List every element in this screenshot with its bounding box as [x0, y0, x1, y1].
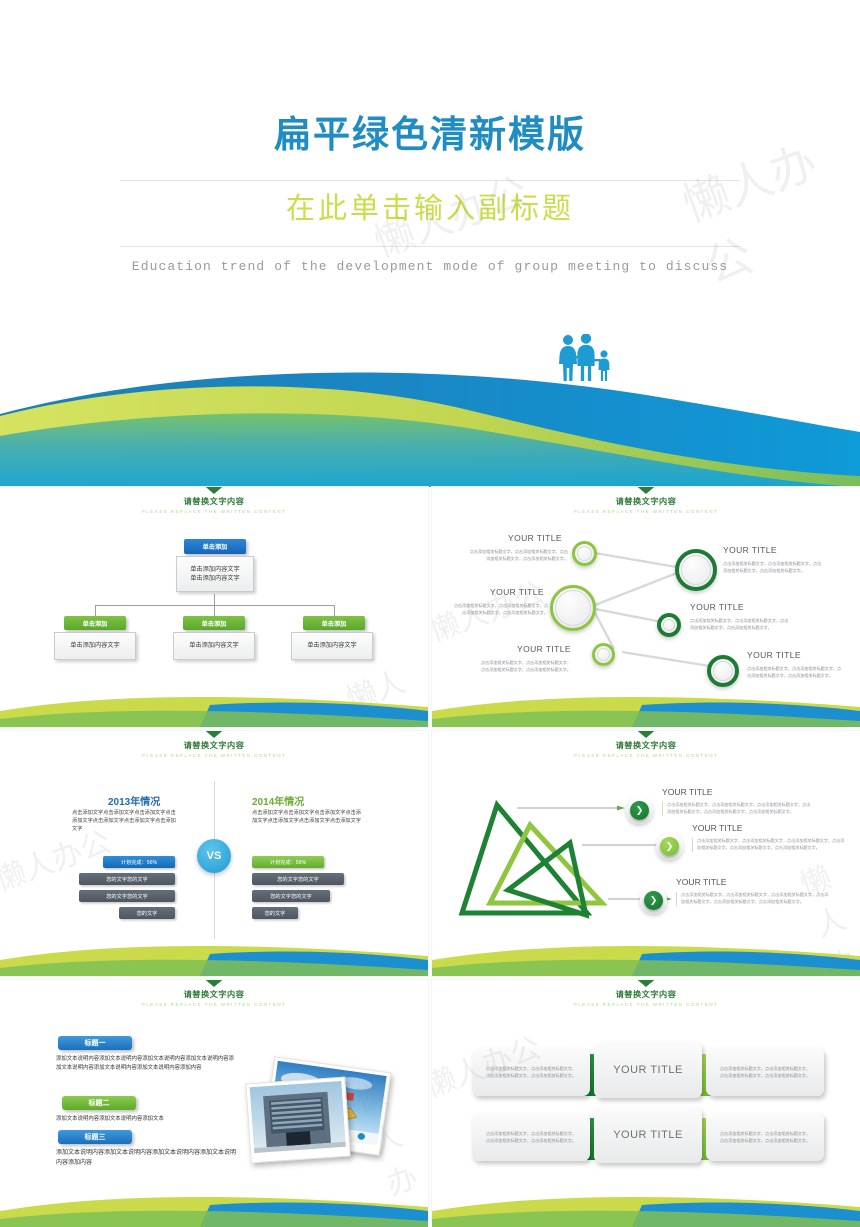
network-item-title-5: YOUR TITLE	[517, 644, 571, 654]
versus-left-bar-3[interactable]: 您的文字您的文字	[79, 890, 175, 902]
slide-header: 请替换文字内容 PLEASE REPLACE THE WRITTEN CONTE…	[0, 731, 428, 758]
network-item-text-1: 点击添加相关标题文字，点击添加相关标题文字，点击添加相关标题文字，点击添加相关标…	[468, 549, 568, 563]
network-item-text-4: 点击添加相关标题文字，点击添加相关标题文字，点击添加相关标题文字，点击添加相关标…	[690, 618, 790, 632]
slide-thumbnail-grid: 请替换文字内容 PLEASE REPLACE THE WRITTEN CONTE…	[0, 487, 860, 1219]
chevron-right-icon[interactable]: ❯	[630, 801, 649, 820]
circle-node-5[interactable]	[592, 643, 615, 666]
slide-hills-graphic	[432, 1193, 860, 1227]
versus-right-bar-4[interactable]: 您的文字	[252, 907, 298, 919]
versus-left-bar-2[interactable]: 您的文字您的文字	[79, 873, 175, 885]
triangle-down-icon	[201, 980, 227, 987]
section-text-1: 添加文本说明内容添加文本说明内容添加文本说明内容添加文本说明内容添加文本说明内容…	[56, 1055, 236, 1073]
versus-left-heading: 2013年情况	[108, 793, 160, 808]
card-center-title-2[interactable]: YOUR TITLE	[594, 1107, 702, 1163]
versus-right-heading: 2014年情况	[252, 793, 304, 808]
network-item-title-2: YOUR TITLE	[723, 545, 777, 555]
arrow-right-icon	[517, 805, 627, 811]
versus-badge: VS	[197, 839, 231, 873]
slide-header: 请替换文字内容 PLEASE REPLACE THE WRITTEN CONTE…	[0, 487, 428, 514]
network-item-text-3: 点击添加相关标题文字，点击添加相关标题文字，点击添加相关标题文字，点击添加相关标…	[450, 603, 548, 617]
triangle-down-icon	[201, 731, 227, 738]
org-child-head-2[interactable]: 单击添加	[183, 616, 245, 630]
slide-header-en: PLEASE REPLACE THE WRITTEN CONTENT	[432, 753, 860, 758]
org-child-body-2[interactable]: 单击添加内容文字	[173, 632, 255, 660]
slide-versus[interactable]: 请替换文字内容 PLEASE REPLACE THE WRITTEN CONTE…	[0, 731, 428, 976]
slide-header: 请替换文字内容 PLEASE REPLACE THE WRITTEN CONTE…	[432, 980, 860, 1007]
slide-header: 请替换文字内容 PLEASE REPLACE THE WRITTEN CONTE…	[432, 731, 860, 758]
title-slide: 扁平绿色清新模版 在此单击输入副标题 Education trend of th…	[0, 0, 860, 487]
slide-hills-graphic	[0, 693, 428, 727]
network-item-title-4: YOUR TITLE	[690, 602, 744, 612]
triangle-down-icon	[633, 731, 659, 738]
title-divider-top	[120, 180, 740, 181]
org-child-head-3[interactable]: 单击添加	[303, 616, 365, 630]
slide-header-en: PLEASE REPLACE THE WRITTEN CONTENT	[432, 1002, 860, 1007]
triangle-down-icon	[201, 487, 227, 494]
section-badge-1[interactable]: 标题一	[58, 1036, 132, 1050]
network-item-title-6: YOUR TITLE	[747, 650, 801, 660]
triangle-item-title-3: YOUR TITLE	[676, 877, 726, 887]
network-item-text-5: 点击添加相关标题文字，点击添加相关标题文字，点击添加相关标题文字，点击添加相关标…	[479, 660, 571, 674]
org-child-body-3[interactable]: 单击添加内容文字	[291, 632, 373, 660]
circle-node-6[interactable]	[707, 655, 739, 687]
connector	[214, 605, 215, 616]
slide-header-cn: 请替换文字内容	[0, 739, 428, 751]
slide-header-en: PLEASE REPLACE THE WRITTEN CONTENT	[0, 509, 428, 514]
network-item-text-2: 点击添加相关标题文字，点击添加相关标题文字，点击添加相关标题文字，点击添加相关标…	[723, 561, 823, 575]
connector	[95, 605, 96, 616]
chevron-right-icon[interactable]: ❯	[644, 891, 663, 910]
card-center-title-1[interactable]: YOUR TITLE	[594, 1042, 702, 1098]
page-subtitle: 在此单击输入副标题	[0, 190, 860, 229]
photo-building[interactable]	[245, 1077, 350, 1164]
card-left-text-1[interactable]: 点击添加相关标题文字，点击添加相关标题文字，点击添加相关标题文字，点击添加相关标…	[472, 1048, 590, 1096]
slide-circle-network[interactable]: 请替换文字内容 PLEASE REPLACE THE WRITTEN CONTE…	[432, 487, 860, 727]
triangle-item-title-2: YOUR TITLE	[692, 823, 742, 833]
hero-hills-graphic	[0, 372, 860, 487]
versus-right-bar-2[interactable]: 您的文字您的文字	[252, 873, 344, 885]
connector	[334, 605, 335, 616]
versus-left-bar-1[interactable]: 计划完成：56%	[103, 856, 175, 868]
versus-right-bar-1[interactable]: 计划完成：56%	[252, 856, 324, 868]
network-item-title-1: YOUR TITLE	[508, 533, 562, 543]
circle-node-3[interactable]	[550, 585, 596, 631]
network-item-title-3: YOUR TITLE	[490, 587, 544, 597]
slide-header-cn: 请替换文字内容	[432, 988, 860, 1000]
slide-titles-photos[interactable]: 请替换文字内容 PLEASE REPLACE THE WRITTEN CONTE…	[0, 980, 428, 1227]
slide-hills-graphic	[0, 942, 428, 976]
ppt-template-preview: 扁平绿色清新模版 在此单击输入副标题 Education trend of th…	[0, 0, 860, 1219]
org-root-head[interactable]: 单击添加	[184, 539, 246, 554]
connector	[95, 605, 335, 606]
slide-org-chart[interactable]: 请替换文字内容 PLEASE REPLACE THE WRITTEN CONTE…	[0, 487, 428, 727]
slide-hills-graphic	[432, 942, 860, 976]
slide-header-en: PLEASE REPLACE THE WRITTEN CONTENT	[0, 753, 428, 758]
triangle-item-text-3: 点击添加相关标题文字，点击添加相关标题文字，点击添加相关标题文字，点击添加相关标…	[676, 892, 829, 906]
slide-header-en: PLEASE REPLACE THE WRITTEN CONTENT	[0, 1002, 428, 1007]
slide-hills-graphic	[432, 693, 860, 727]
section-badge-2[interactable]: 标题二	[62, 1096, 136, 1110]
slide-header-cn: 请替换文字内容	[432, 739, 860, 751]
slide-hills-graphic	[0, 1193, 428, 1227]
section-text-3: 添加文本说明内容添加文本说明内容添加文本说明内容添加文本说明内容添加内容	[56, 1149, 238, 1169]
chevron-right-icon[interactable]: ❯	[660, 837, 679, 856]
versus-left-bar-4[interactable]: 您的文字	[119, 907, 175, 919]
circle-node-2[interactable]	[675, 549, 717, 591]
triangle-item-title-1: YOUR TITLE	[662, 787, 712, 797]
slide-header-cn: 请替换文字内容	[0, 495, 428, 507]
section-badge-3[interactable]: 标题三	[58, 1130, 132, 1144]
slide-header-cn: 请替换文字内容	[0, 988, 428, 1000]
title-divider-bottom	[120, 246, 740, 247]
versus-right-bar-3[interactable]: 您的文字您的文字	[252, 890, 330, 902]
network-item-text-6: 点击添加相关标题文字，点击添加相关标题文字，点击添加相关标题文字，点击添加相关标…	[747, 666, 842, 680]
triangle-item-text-1: 点击添加相关标题文字，点击添加相关标题文字，点击添加相关标题文字，点击添加相关标…	[662, 802, 812, 816]
page-title: 扁平绿色清新模版	[0, 112, 860, 158]
org-root-body[interactable]: 单击添加内容文字 单击添加内容文字	[176, 556, 254, 592]
org-child-body-1[interactable]: 单击添加内容文字	[54, 632, 136, 660]
slide-header: 请替换文字内容 PLEASE REPLACE THE WRITTEN CONTE…	[0, 980, 428, 1007]
versus-left-paragraph: 点击添加文字点击添加文字点击添加文字点击添加文字点击添加文字点击添加文字点击添加…	[72, 809, 180, 833]
slide-triangles[interactable]: 请替换文字内容 PLEASE REPLACE THE WRITTEN CONTE…	[432, 731, 860, 976]
triangle-item-text-2: 点击添加相关标题文字，点击添加相关标题文字，点击添加相关标题文字，点击添加相关标…	[692, 838, 845, 852]
card-right-text-1[interactable]: 点击添加相关标题文字，点击添加相关标题文字，点击添加相关标题文字，点击添加相关标…	[706, 1048, 824, 1096]
card-left-text-2[interactable]: 点击添加相关标题文字，点击添加相关标题文字，点击添加相关标题文字，点击添加相关标…	[472, 1113, 590, 1161]
versus-right-paragraph: 点击添加文字点击添加文字点击添加文字点击添加文字点击添加文字点击添加文字点击添加…	[252, 809, 362, 825]
circle-node-4[interactable]	[657, 613, 681, 637]
slide-card-rows[interactable]: 请替换文字内容 PLEASE REPLACE THE WRITTEN CONTE…	[432, 980, 860, 1227]
org-child-head-1[interactable]: 单击添加	[64, 616, 126, 630]
card-right-text-2[interactable]: 点击添加相关标题文字，点击添加相关标题文字，点击添加相关标题文字，点击添加相关标…	[706, 1113, 824, 1161]
circle-node-1[interactable]	[572, 541, 597, 566]
triangle-down-icon	[633, 980, 659, 987]
section-text-2: 添加文本说明内容添加文本说明内容添加文本	[56, 1115, 236, 1124]
page-english-caption: Education trend of the development mode …	[0, 259, 860, 274]
